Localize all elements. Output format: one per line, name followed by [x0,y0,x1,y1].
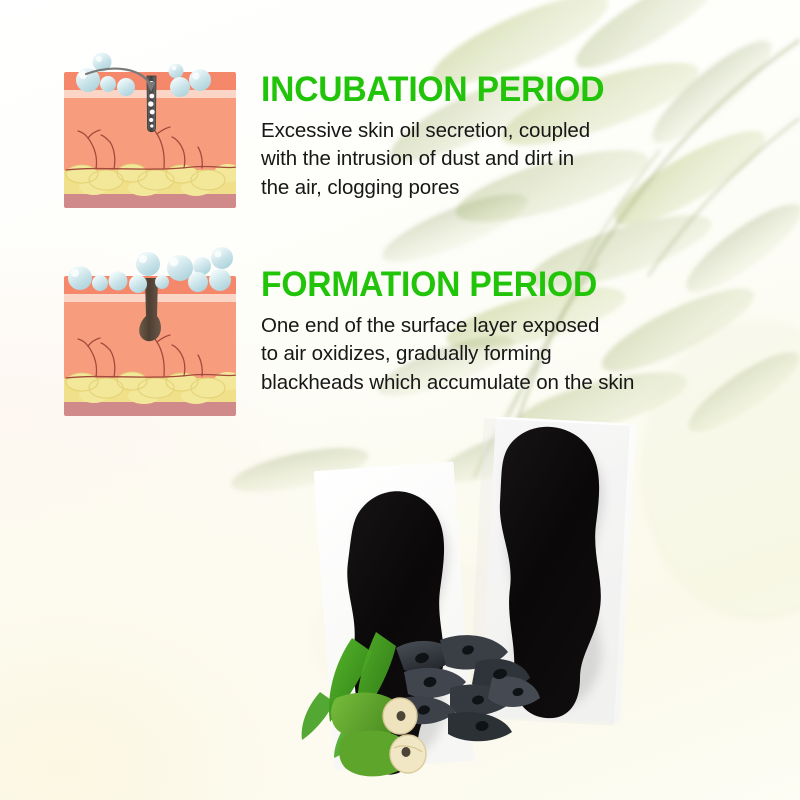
bubble [117,78,135,96]
bubble [92,275,108,291]
section-incubation-text: INCUBATION PERIOD Excessive skin oil sec… [261,72,681,202]
bubble [68,266,92,290]
muscle-base-layer [64,194,236,208]
product-photo-nose-strips [300,410,800,800]
bubble [189,69,211,91]
skin-diagram-incubation [52,52,250,222]
formation-line-2: to air oxidizes, gradually forming [261,340,711,368]
skin-layers-group [64,72,242,208]
bubble [100,76,116,92]
incubation-line-1: Excessive skin oil secretion, coupled [261,117,681,145]
infographic-canvas: INCUBATION PERIOD Excessive skin oil sec… [0,0,800,800]
muscle-base-layer [64,402,236,416]
bubble [188,272,208,292]
bubble [209,269,231,291]
formation-line-3: blackheads which accumulate on the skin [261,369,711,397]
skin-diagram-formation [52,238,250,430]
incubation-heading: INCUBATION PERIOD [261,72,664,107]
section-formation-text: FORMATION PERIOD One end of the surface … [261,267,711,397]
bubble [129,275,147,293]
bubble [169,64,184,79]
bubble [109,272,128,291]
incubation-line-3: the air, clogging pores [261,174,681,202]
bubble [136,252,160,276]
formation-body: One end of the surface layer exposed to … [261,312,711,397]
formation-line-1: One end of the surface layer exposed [261,312,711,340]
incubation-body: Excessive skin oil secretion, coupled wi… [261,117,681,202]
formation-heading: FORMATION PERIOD [261,267,693,302]
skin-layers-group [64,276,242,416]
bubble [155,275,169,289]
incubation-line-2: with the intrusion of dust and dirt in [261,145,681,173]
bubble [170,77,190,97]
bubble [211,247,233,269]
